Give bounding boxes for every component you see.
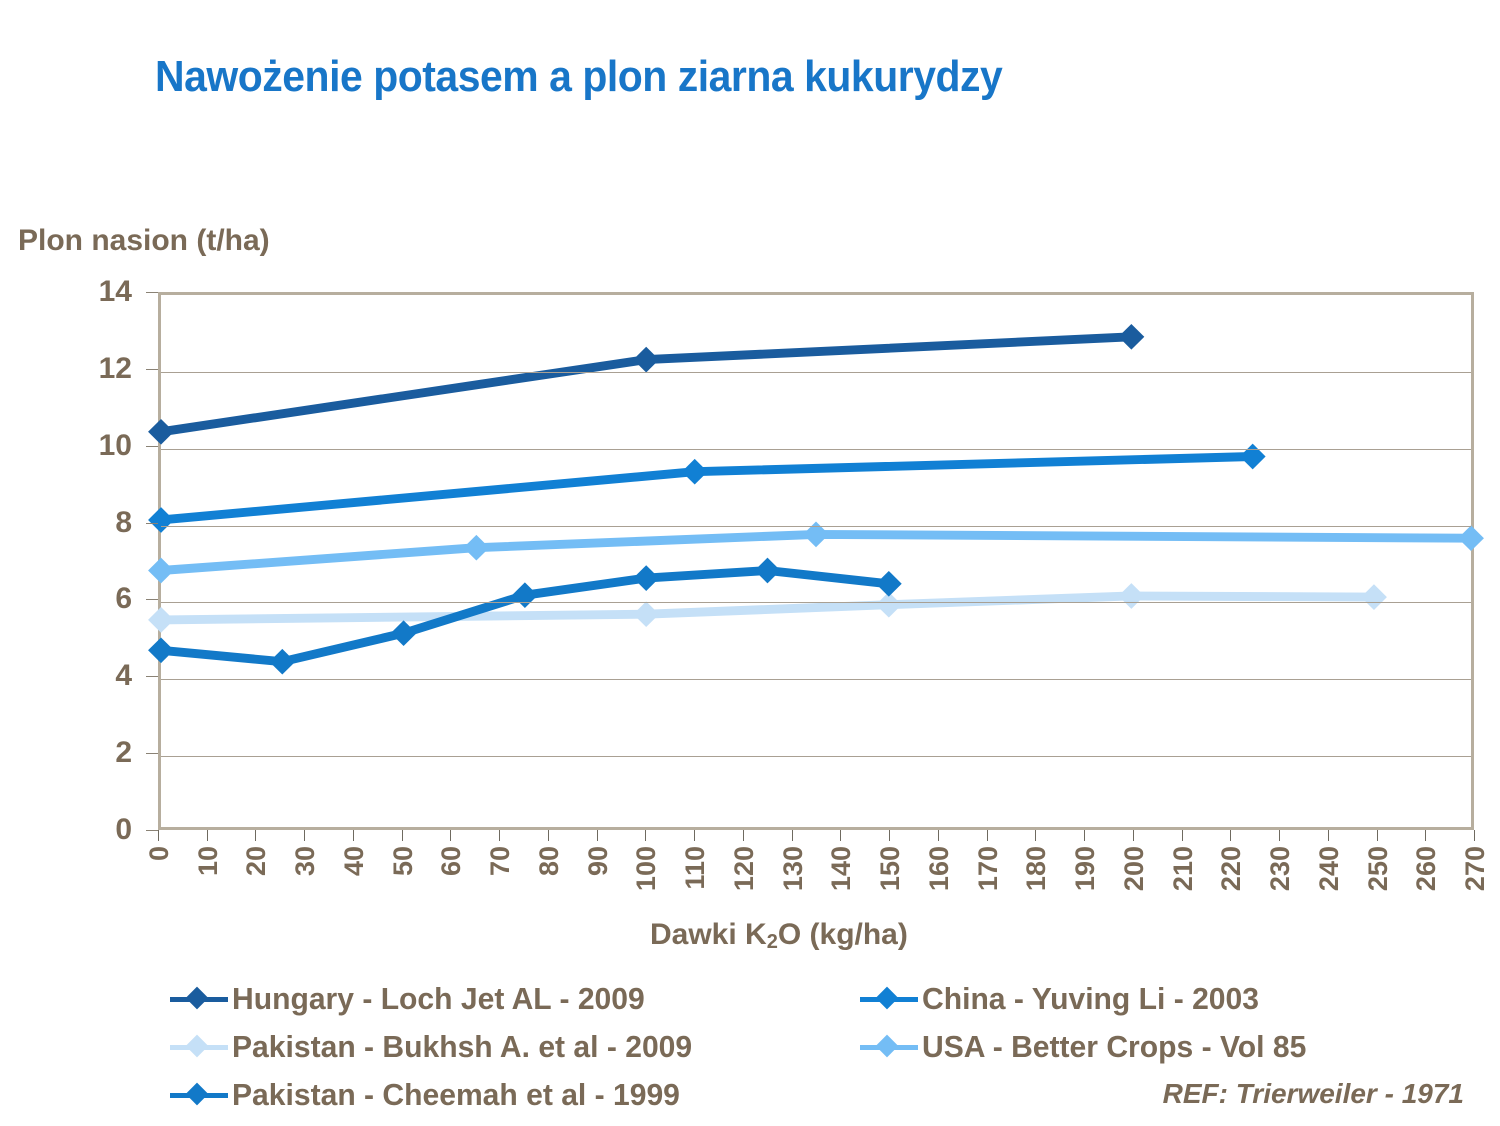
x-axis-tick-mark (1230, 830, 1231, 841)
data-point-marker (391, 620, 417, 646)
data-point-marker (876, 571, 902, 597)
x-axis-tick-label: 230 (1265, 846, 1296, 891)
x-axis-tick-label: 190 (1070, 846, 1101, 891)
y-axis-tick-label: 4 (12, 659, 132, 693)
y-axis-tick-mark (146, 446, 158, 447)
legend-marker-icon (170, 1084, 228, 1106)
y-axis-tick-mark (146, 599, 158, 600)
data-point-marker (148, 419, 174, 445)
series-china (148, 444, 1266, 533)
x-axis-tick-mark (792, 830, 793, 841)
x-axis-tick-label: 200 (1119, 846, 1150, 891)
x-axis-title-prefix: Dawki K (650, 918, 767, 951)
legend-item-label: Pakistan - Bukhsh A. et al - 2009 (232, 1029, 692, 1065)
y-axis-tick-mark (146, 369, 158, 370)
x-axis-tick-mark (597, 830, 598, 841)
legend-marker-icon (170, 1036, 228, 1058)
x-axis-tick-label: 0 (144, 846, 175, 861)
gridline (161, 602, 1471, 603)
data-point-marker (1118, 583, 1144, 609)
x-axis-title-subscript: 2 (767, 931, 778, 953)
data-point-marker (1458, 525, 1484, 551)
x-axis-tick-label: 40 (339, 846, 370, 876)
plot-area (158, 292, 1474, 830)
y-axis-tick-label: 10 (12, 429, 132, 463)
legend-item[interactable]: Hungary - Loch Jet AL - 2009 (170, 975, 706, 1023)
x-axis-tick-label: 270 (1460, 846, 1491, 891)
x-axis-tick-label: 140 (826, 846, 857, 891)
x-axis-tick-label: 70 (485, 846, 516, 876)
x-axis-tick-mark (987, 830, 988, 841)
reference-note: REF: Trierweiler - 1971 (1163, 1078, 1464, 1110)
y-axis-tick-label: 12 (12, 352, 132, 386)
gridline (161, 679, 1471, 680)
data-point-marker (1118, 324, 1144, 350)
series-hungary (148, 324, 1144, 445)
data-point-marker (633, 565, 659, 591)
y-axis-tick-label: 8 (12, 506, 132, 540)
chart-title: Nawożenie potasem a plon ziarna kukurydz… (155, 52, 1002, 102)
x-axis-tick-mark (353, 830, 354, 841)
x-axis-tick-label: 130 (778, 846, 809, 891)
x-axis-tick-mark (889, 830, 890, 841)
x-axis-tick-label: 80 (534, 846, 565, 876)
legend-marker-icon (170, 988, 228, 1010)
legend-marker-icon (860, 988, 918, 1010)
x-axis-tick-label: 90 (583, 846, 614, 876)
x-axis-tick-mark (402, 830, 403, 841)
x-axis-tick-mark (450, 830, 451, 841)
x-axis-tick-label: 60 (436, 846, 467, 876)
x-axis-tick-mark (1182, 830, 1183, 841)
x-axis-tick-mark (207, 830, 208, 841)
y-axis-tick-label: 6 (12, 582, 132, 616)
x-axis-tick-mark (840, 830, 841, 841)
x-axis-tick-mark (158, 830, 159, 841)
y-axis-tick-label: 2 (12, 736, 132, 770)
y-axis-tick-label: 0 (12, 813, 132, 847)
data-point-marker (633, 347, 659, 373)
data-point-marker (148, 507, 174, 533)
gridline (161, 372, 1471, 373)
x-axis-tick-mark (548, 830, 549, 841)
x-axis-tick-label: 210 (1168, 846, 1199, 891)
y-axis-tick-mark (146, 676, 158, 677)
data-point-marker (148, 558, 174, 584)
series-line (161, 457, 1253, 520)
data-point-marker (269, 649, 295, 675)
legend-column-right: China - Yuving Li - 2003USA - Better Cro… (860, 975, 1318, 1071)
x-axis-tick-label: 10 (193, 846, 224, 876)
x-axis-tick-mark (1474, 830, 1475, 841)
x-axis-tick-label: 180 (1021, 846, 1052, 891)
data-point-marker (1361, 584, 1387, 610)
x-axis-tick-label: 20 (241, 846, 272, 876)
legend-item[interactable]: Pakistan - Cheemah et al - 1999 (170, 1071, 706, 1119)
chart-root: Nawożenie potasem a plon ziarna kukurydz… (0, 0, 1500, 1126)
gridline (161, 449, 1471, 450)
x-axis-tick-label: 250 (1363, 846, 1394, 891)
x-axis-tick-mark (938, 830, 939, 841)
x-axis-tick-mark (255, 830, 256, 841)
x-axis-tick-label: 170 (973, 846, 1004, 891)
series-pakistan (148, 583, 1387, 633)
legend-item[interactable]: China - Yuving Li - 2003 (860, 975, 1318, 1023)
x-axis-tick-mark (1425, 830, 1426, 841)
legend-column-left: Hungary - Loch Jet AL - 2009Pakistan - B… (170, 975, 706, 1119)
y-axis-tick-label: 14 (12, 275, 132, 309)
x-axis-title-suffix: O (kg/ha) (778, 918, 908, 951)
x-axis-tick-label: 30 (290, 846, 321, 876)
data-point-marker (512, 582, 538, 608)
data-point-marker (755, 558, 781, 584)
data-point-marker (682, 459, 708, 485)
legend-item[interactable]: Pakistan - Bukhsh A. et al - 2009 (170, 1023, 706, 1071)
x-axis-tick-mark (1084, 830, 1085, 841)
legend-item-label: Hungary - Loch Jet AL - 2009 (232, 981, 645, 1017)
legend-item-label: USA - Better Crops - Vol 85 (922, 1029, 1306, 1065)
legend-item-label: China - Yuving Li - 2003 (922, 981, 1259, 1017)
x-axis-title: Dawki K2O (kg/ha) (650, 918, 908, 954)
x-axis-tick-label: 110 (680, 846, 711, 890)
legend-item[interactable]: USA - Better Crops - Vol 85 (860, 1023, 1318, 1071)
data-point-marker (1240, 444, 1266, 470)
x-axis-tick-label: 240 (1314, 846, 1345, 891)
y-axis-tick-mark (146, 753, 158, 754)
x-axis-tick-mark (304, 830, 305, 841)
series-line (161, 596, 1374, 620)
data-point-marker (633, 601, 659, 627)
x-axis-tick-label: 160 (924, 846, 955, 891)
x-axis-tick-label: 120 (729, 846, 760, 891)
x-axis-tick-label: 150 (875, 846, 906, 891)
x-axis-tick-mark (1377, 830, 1378, 841)
x-axis-tick-label: 50 (388, 846, 419, 876)
x-axis-tick-mark (645, 830, 646, 841)
x-axis-tick-label: 100 (631, 846, 662, 891)
x-axis-tick-mark (1279, 830, 1280, 841)
x-axis-tick-mark (1328, 830, 1329, 841)
y-axis-tick-mark (146, 523, 158, 524)
x-axis-tick-label: 220 (1216, 846, 1247, 891)
x-axis-tick-mark (694, 830, 695, 841)
x-axis-tick-mark (499, 830, 500, 841)
x-axis-tick-mark (1035, 830, 1036, 841)
gridline (161, 756, 1471, 757)
series-layer (161, 295, 1471, 827)
legend-item-label: Pakistan - Cheemah et al - 1999 (232, 1077, 680, 1113)
legend-marker-icon (860, 1036, 918, 1058)
data-point-marker (148, 637, 174, 663)
y-axis-tick-mark (146, 292, 158, 293)
y-axis-tick-mark (146, 830, 158, 831)
data-point-marker (463, 535, 489, 561)
data-point-marker (148, 607, 174, 633)
y-axis-title: Plon nasion (t/ha) (18, 224, 270, 258)
x-axis-tick-label: 260 (1411, 846, 1442, 891)
gridline (161, 526, 1471, 527)
x-axis-tick-mark (1133, 830, 1134, 841)
x-axis-tick-mark (743, 830, 744, 841)
